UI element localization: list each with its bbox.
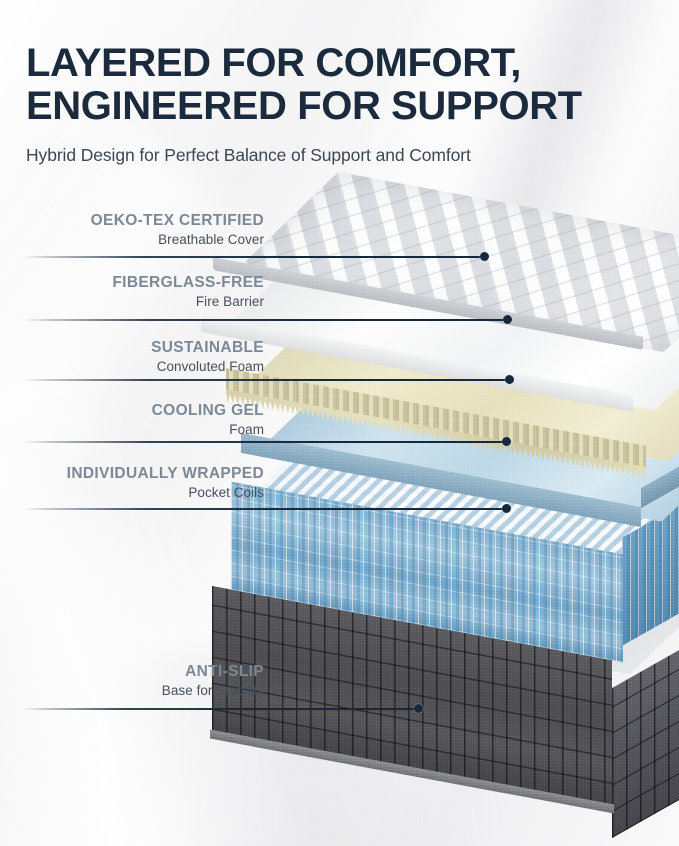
header: LAYERED FOR COMFORT, ENGINEERED FOR SUPP… (26, 42, 656, 166)
leader-dot (505, 375, 514, 384)
callout-title: COOLING GEL (0, 401, 264, 420)
leader-dot (502, 504, 511, 513)
page-title: LAYERED FOR COMFORT, ENGINEERED FOR SUPP… (26, 42, 656, 128)
leader-dot (414, 704, 423, 713)
callout-title: SUSTAINABLE (0, 338, 264, 357)
callout-label: INDIVIDUALLY WRAPPED Pocket Coils (0, 464, 264, 502)
callout-label: ANTI-SLIP Base for Stability (0, 662, 264, 700)
callout-title: FIBERGLASS-FREE (0, 273, 264, 292)
callout-subtitle: Breathable Cover (0, 231, 264, 249)
callout-subtitle: Pocket Coils (0, 484, 264, 502)
infographic-canvas: LAYERED FOR COMFORT, ENGINEERED FOR SUPP… (0, 0, 679, 846)
page-subtitle: Hybrid Design for Perfect Balance of Sup… (26, 145, 656, 166)
callout-subtitle: Foam (0, 421, 264, 439)
callout-label: OEKO-TEX CERTIFIED Breathable Cover (0, 211, 264, 249)
leader-line (22, 319, 507, 321)
leader-line (22, 441, 506, 443)
callout-subtitle: Fire Barrier (0, 293, 264, 311)
leader-line (22, 256, 484, 258)
leader-line (22, 708, 418, 710)
callout-subtitle: Convoluted Foam (0, 358, 264, 376)
callout-label: SUSTAINABLE Convoluted Foam (0, 338, 264, 376)
callout-label: FIBERGLASS-FREE Fire Barrier (0, 273, 264, 311)
leader-line (22, 379, 509, 381)
leader-line (22, 508, 506, 510)
callout-label: COOLING GEL Foam (0, 401, 264, 439)
callout-subtitle: Base for Stability (0, 682, 264, 700)
callout-title: ANTI-SLIP (0, 662, 264, 681)
callout-title: INDIVIDUALLY WRAPPED (0, 464, 264, 483)
callout-title: OEKO-TEX CERTIFIED (0, 211, 264, 230)
leader-dot (502, 437, 511, 446)
leader-dot (503, 315, 512, 324)
leader-dot (480, 252, 489, 261)
